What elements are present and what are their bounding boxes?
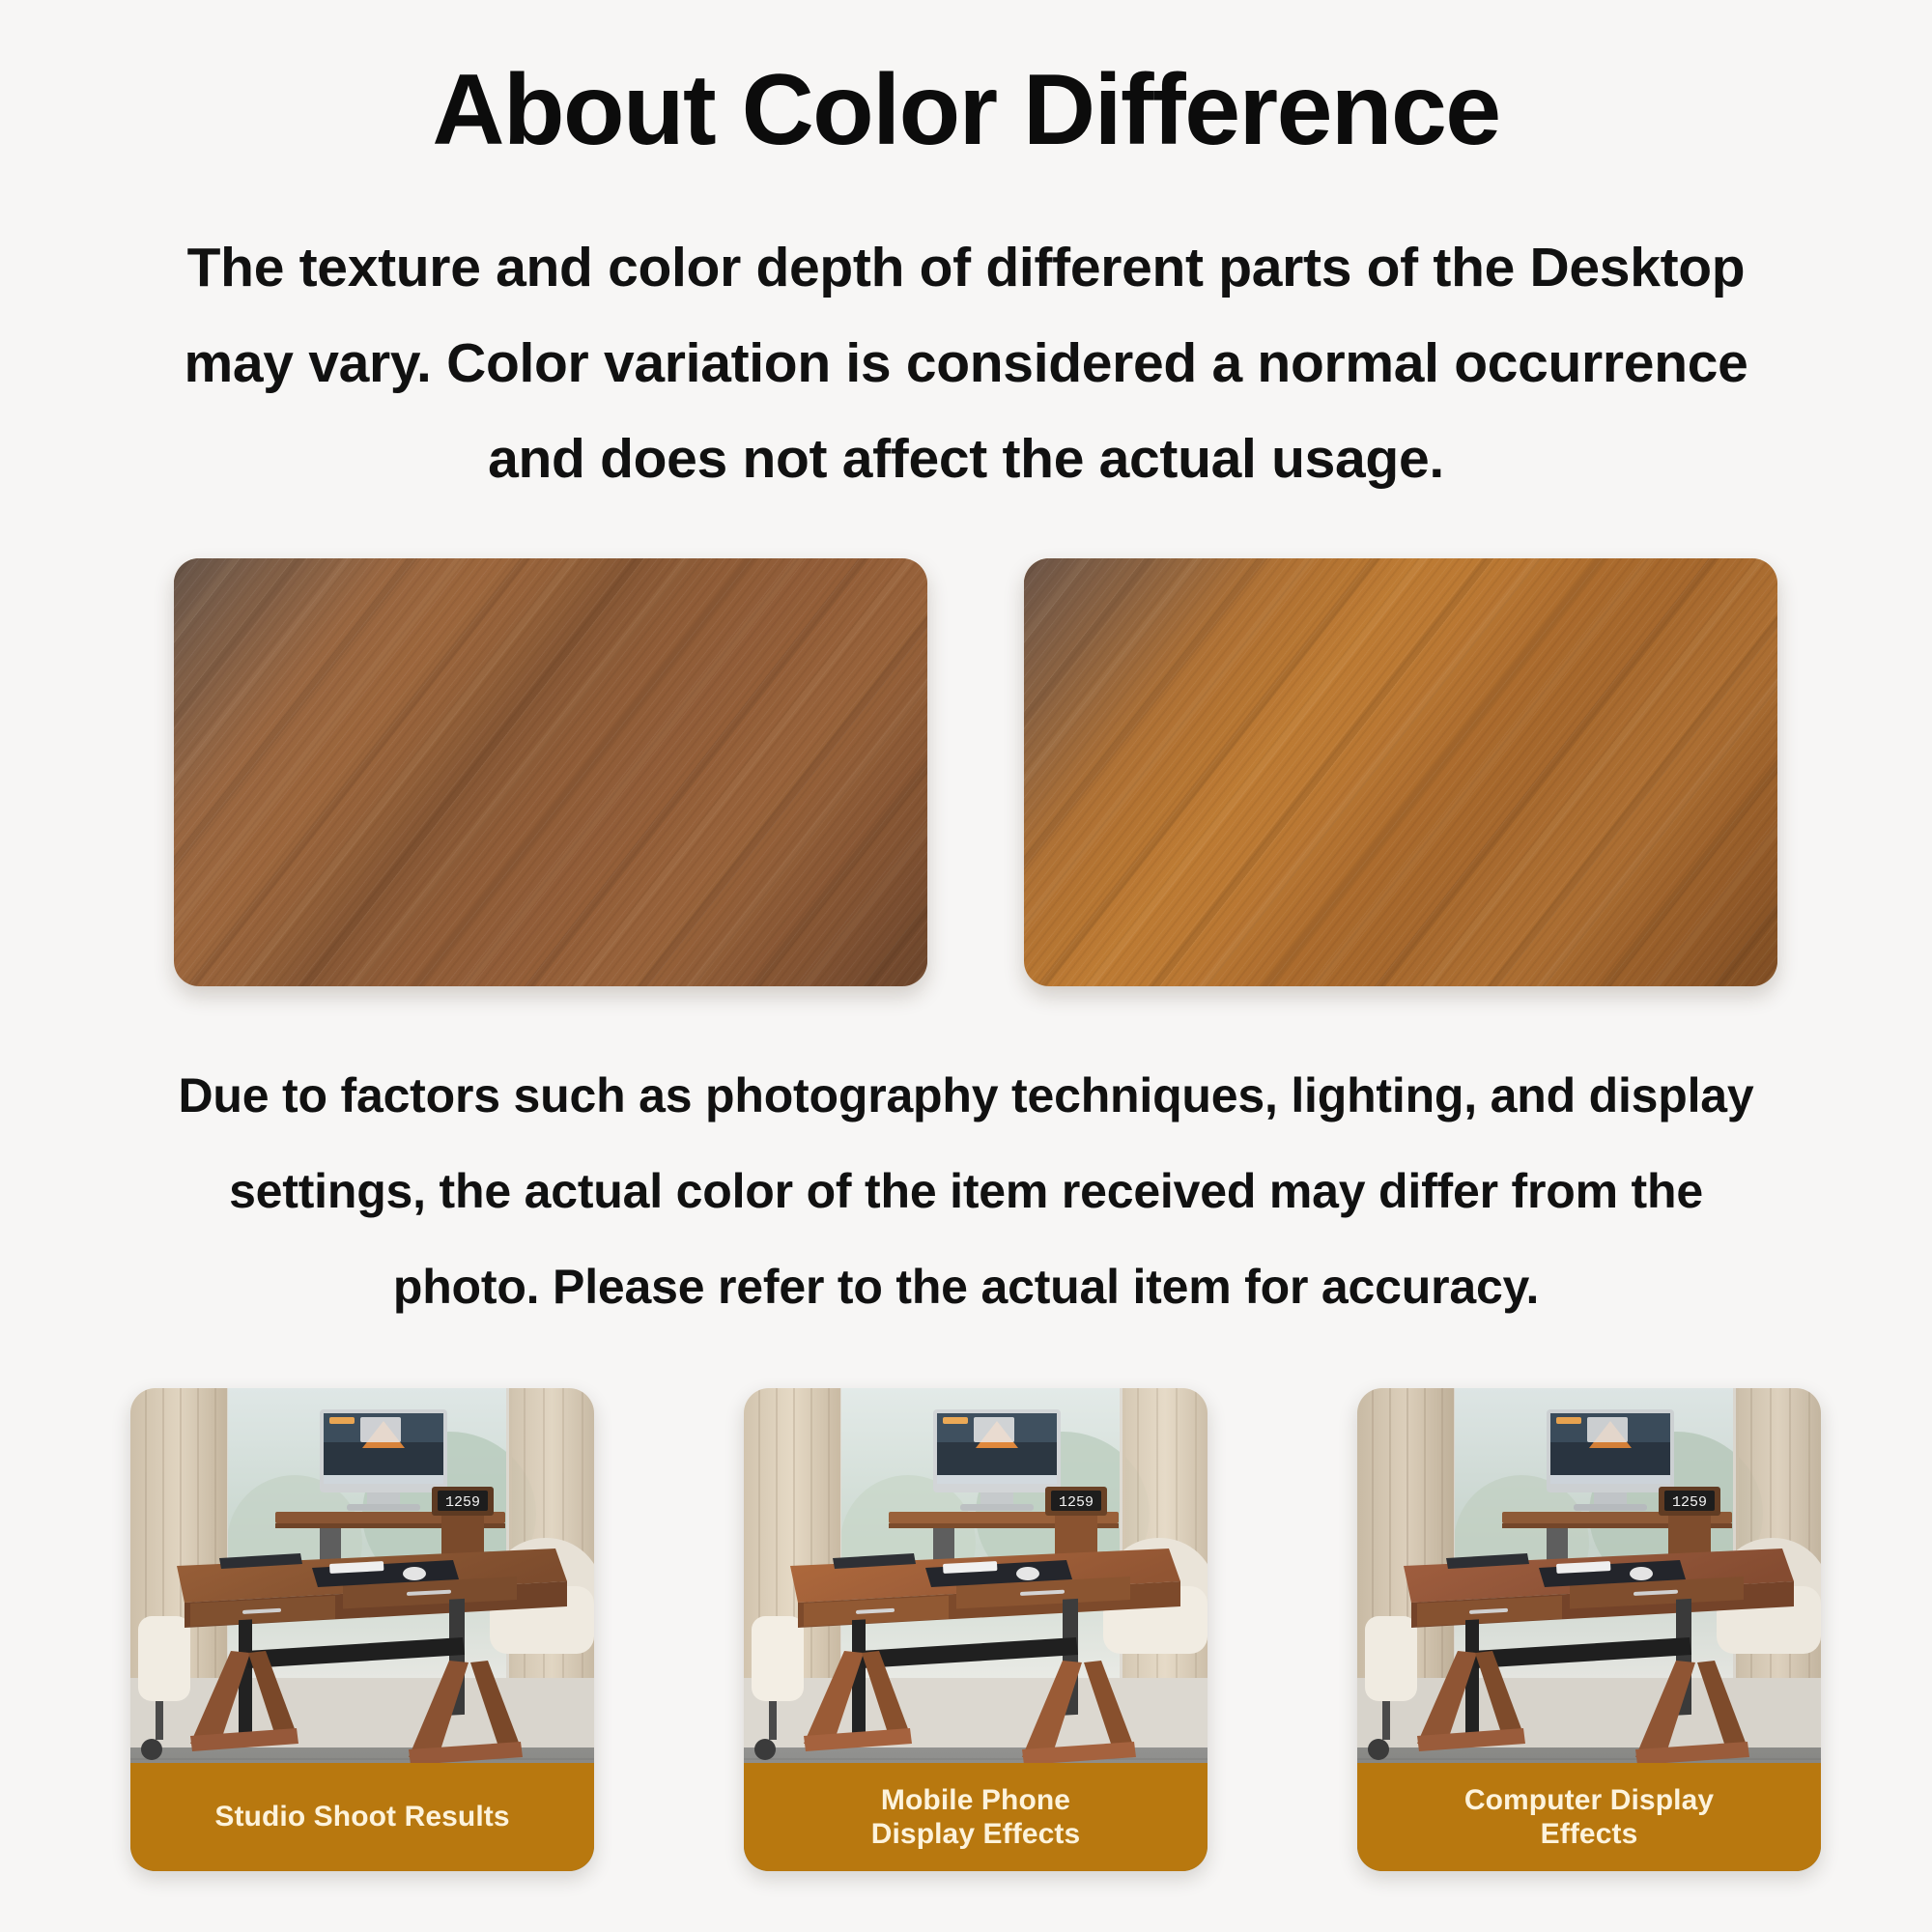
- card-caption: Studio Shoot Results: [130, 1763, 594, 1871]
- wood-sheen-overlay: [1024, 558, 1777, 986]
- desk-clock-display: 1259: [1672, 1494, 1707, 1511]
- wood-sheen-overlay: [174, 558, 927, 986]
- disclaimer-line-3: photo. Please refer to the actual item f…: [106, 1239, 1826, 1335]
- disclaimer-line-1: Due to factors such as photography techn…: [106, 1048, 1826, 1144]
- comparison-card-row: 1259: [0, 1388, 1932, 1895]
- desk-clock-display: 1259: [445, 1494, 480, 1511]
- texture-swatch-right: [1024, 558, 1777, 986]
- intro-paragraph: The texture and color depth of different…: [106, 220, 1826, 507]
- card-caption: Mobile Phone Display Effects: [744, 1763, 1207, 1871]
- intro-line-1: The texture and color depth of different…: [106, 220, 1826, 316]
- desk-clock-display: 1259: [1059, 1494, 1094, 1511]
- color-difference-page: About Color Difference The texture and c…: [0, 0, 1932, 1932]
- intro-line-2: may vary. Color variation is considered …: [106, 316, 1826, 412]
- comparison-card-computer[interactable]: 1259: [1357, 1388, 1821, 1871]
- intro-line-3: and does not affect the actual usage.: [106, 412, 1826, 507]
- card-caption: Computer Display Effects: [1357, 1763, 1821, 1871]
- texture-swatch-row: [0, 558, 1932, 993]
- comparison-card-studio[interactable]: 1259: [130, 1388, 594, 1871]
- comparison-card-mobile[interactable]: 1259: [744, 1388, 1207, 1871]
- page-title: About Color Difference: [0, 54, 1932, 166]
- disclaimer-line-2: settings, the actual color of the item r…: [106, 1144, 1826, 1239]
- texture-swatch-left: [174, 558, 927, 986]
- disclaimer-paragraph: Due to factors such as photography techn…: [106, 1048, 1826, 1335]
